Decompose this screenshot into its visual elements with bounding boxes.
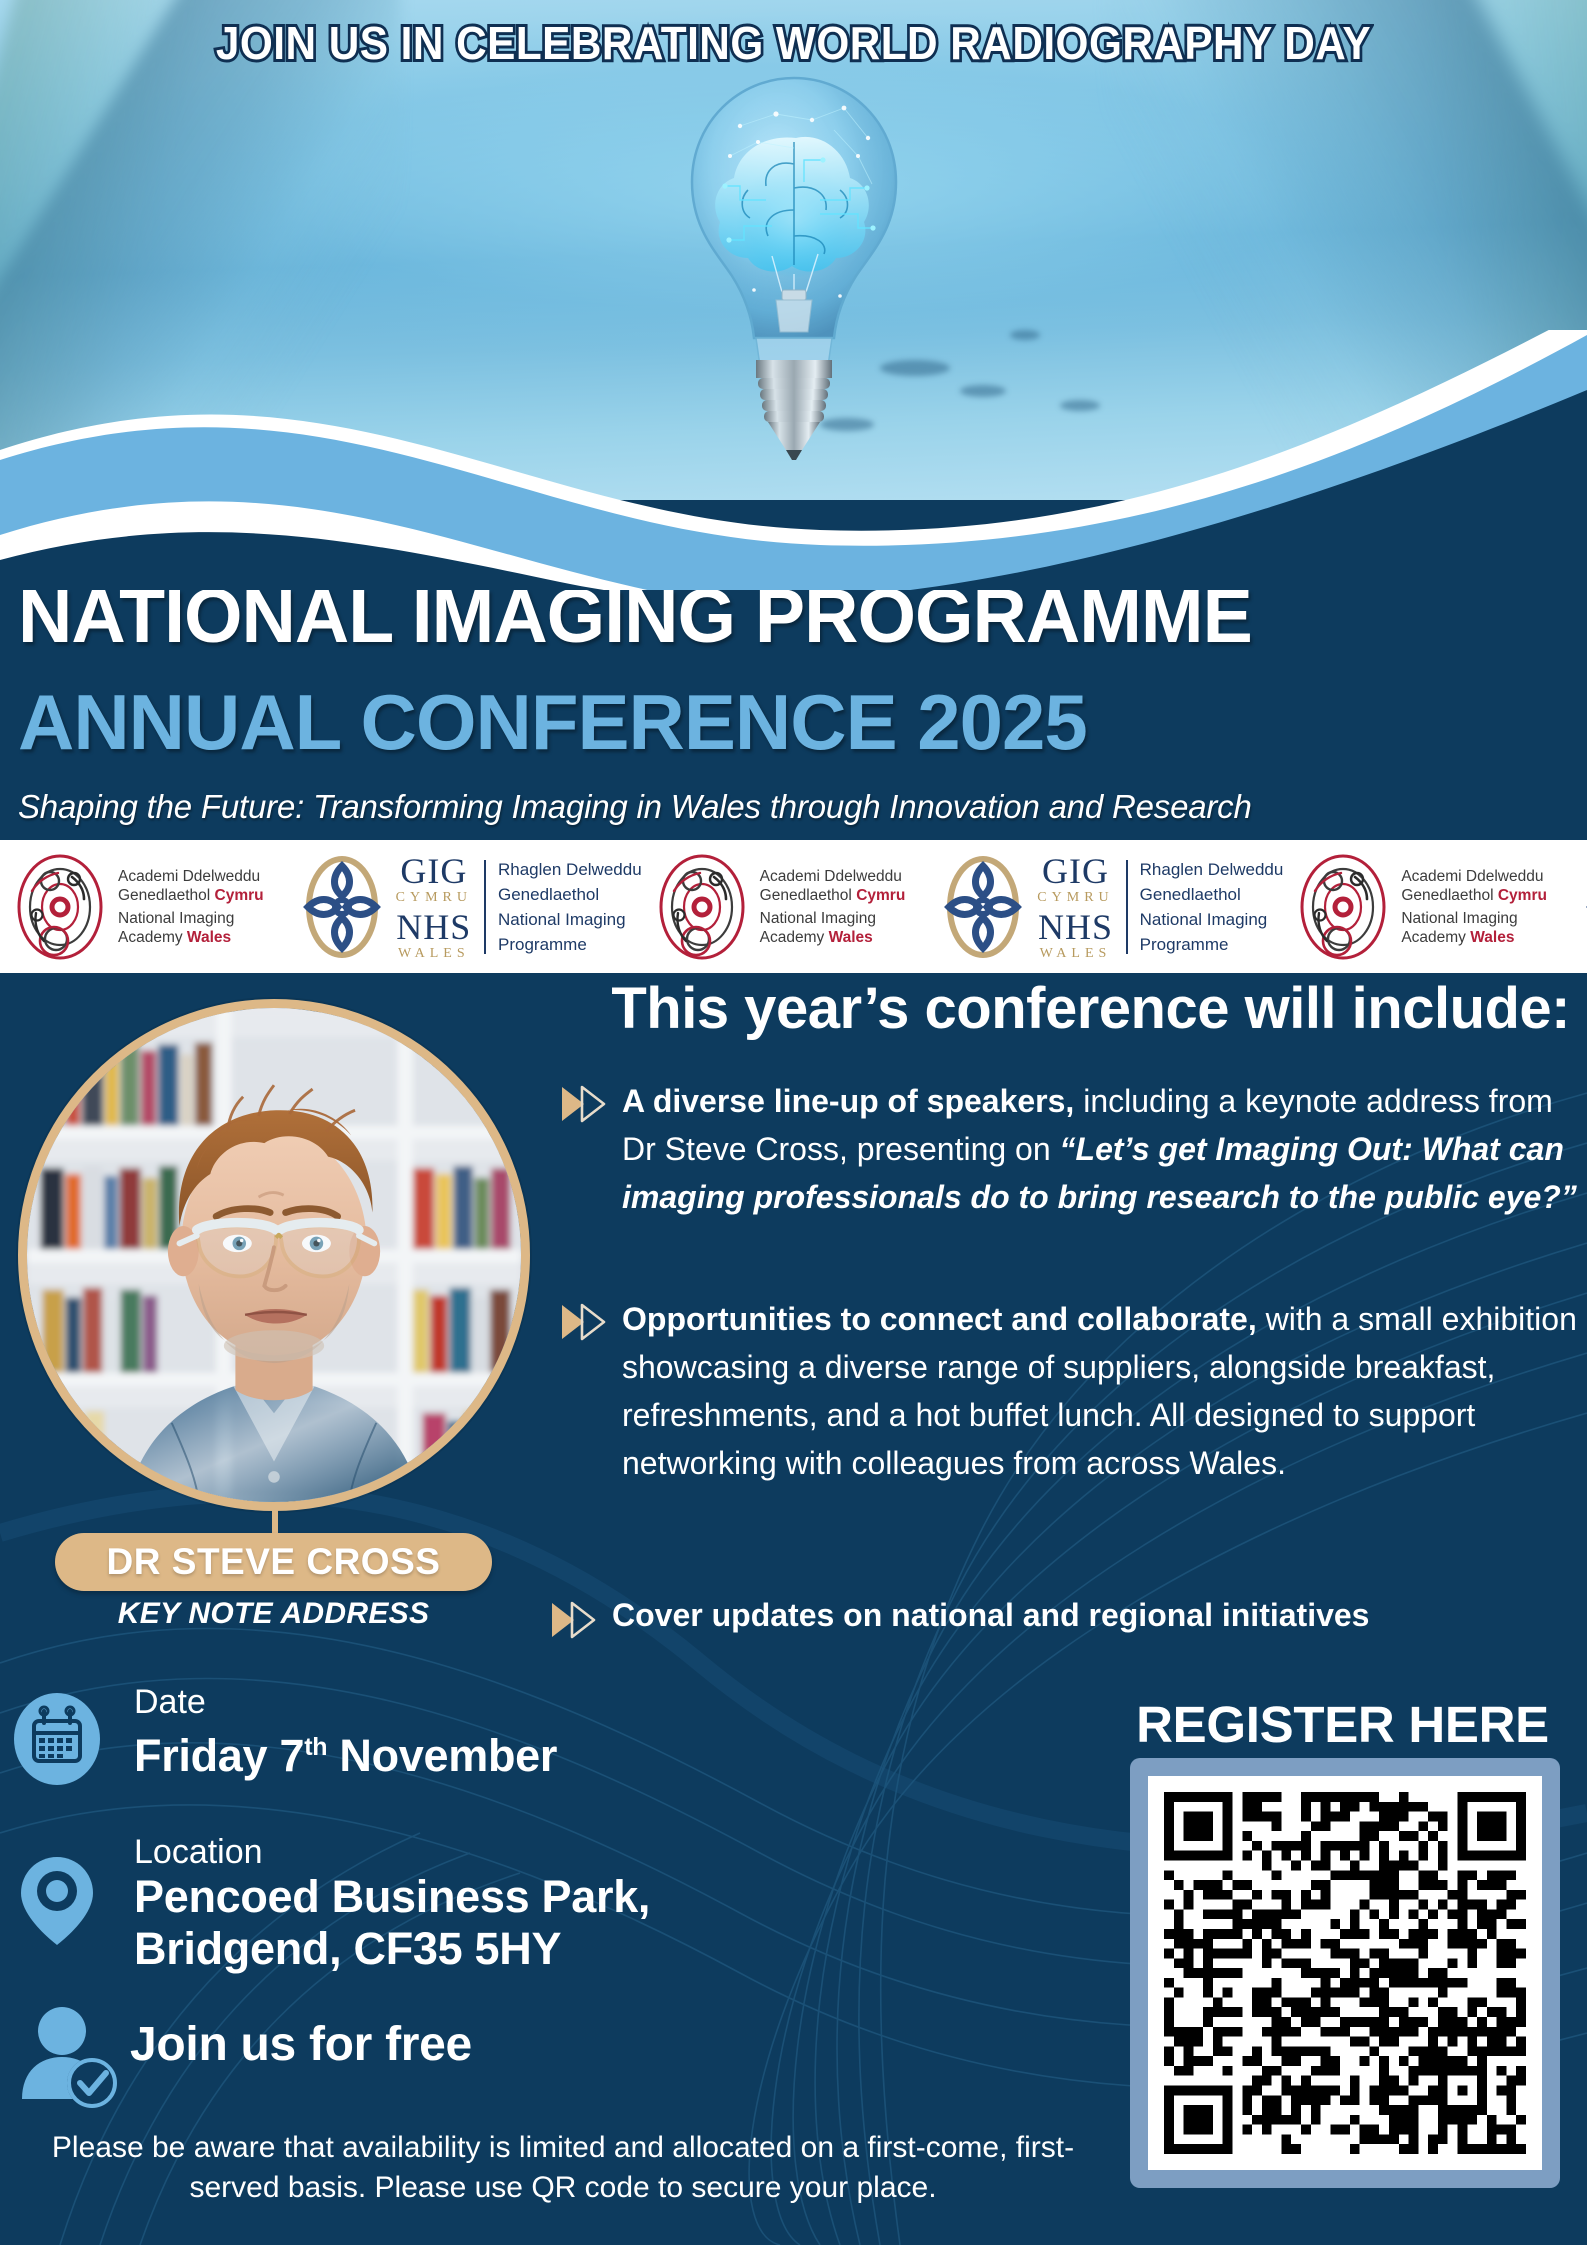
qr-code-panel[interactable] xyxy=(1130,1758,1560,2188)
location-label: Location xyxy=(134,1833,650,1871)
nia-logo-mark xyxy=(656,853,748,961)
date-label: Date xyxy=(134,1683,557,1721)
nhs-logo-text: Rhaglen Delweddu Genedlaethol National I… xyxy=(1140,857,1284,957)
nhs-line-4: Programme xyxy=(498,932,642,957)
logo-pair: Academi Ddelweddu Genedlaethol Cymru Nat… xyxy=(0,852,642,962)
nia-line-3: National Imaging xyxy=(760,909,906,928)
nia-logo-mark xyxy=(1297,853,1389,961)
title-block: NATIONAL IMAGING PROGRAMME ANNUAL CONFER… xyxy=(0,560,1587,840)
logo-strip: Academi Ddelweddu Genedlaethol Cymru Nat… xyxy=(0,840,1587,973)
nia-line-4: Academy Wales xyxy=(760,928,906,947)
bullet-text-1: A diverse line-up of speakers, including… xyxy=(622,1077,1580,1221)
nhs-text: NHS xyxy=(396,909,471,945)
free-row: Join us for free xyxy=(0,2003,900,2113)
nhs-wales-logo-mark xyxy=(935,852,1031,962)
speaker-role: KEY NOTE ADDRESS xyxy=(55,1597,492,1631)
person-check-icon xyxy=(14,2003,124,2118)
free-value: Join us for free xyxy=(130,2019,472,2071)
location-line-1: Pencoed Business Park, xyxy=(134,1871,650,1923)
logo-pair: Academi Ddelweddu Genedlaethol Cymru Nat… xyxy=(1283,852,1587,962)
nia-line-2: Genedlaethol Cymru xyxy=(118,886,264,905)
nhs-line-2: Genedlaethol xyxy=(1140,882,1284,907)
double-chevron-icon xyxy=(560,1077,622,1221)
status-badge: DR STEVE CROSS xyxy=(55,1533,492,1591)
nia-logo-text: Academi Ddelweddu Genedlaethol Cymru Nat… xyxy=(118,867,264,947)
date-value: Friday 7th November xyxy=(134,1721,557,1782)
nhs-wales-logo-mark xyxy=(294,852,390,962)
list-item: A diverse line-up of speakers, including… xyxy=(560,1077,1580,1221)
nia-line-3: National Imaging xyxy=(1401,909,1547,928)
nia-logo-mark xyxy=(14,853,106,961)
page-tagline: Shaping the Future: Transforming Imaging… xyxy=(18,788,1569,826)
register-heading: REGISTER HERE xyxy=(1110,1695,1575,1754)
cymru-text: CYMRU xyxy=(396,891,472,905)
conference-poster: JOIN US IN CELEBRATING WORLD RADIOGRAPHY… xyxy=(0,0,1587,2245)
location-row: Location Pencoed Business Park, Bridgend… xyxy=(0,1833,900,1993)
nhs-wales-logo: GIG CYMRU NHS WALES Rhaglen Delweddu Gen… xyxy=(1577,852,1587,962)
gig-nhs-wordmark: GIG CYMRU NHS WALES xyxy=(1037,853,1113,961)
map-pin-icon xyxy=(14,1853,100,1954)
nia-logo-text: Academi Ddelweddu Genedlaethol Cymru Nat… xyxy=(1401,867,1547,947)
national-imaging-academy-logo: Academi Ddelweddu Genedlaethol Cymru Nat… xyxy=(1297,853,1547,961)
section-heading: This year’s conference will include: xyxy=(490,975,1570,1042)
gig-nhs-wordmark: GIG CYMRU NHS WALES xyxy=(396,853,472,961)
date-ordinal: th xyxy=(304,1733,327,1761)
wales-text: WALES xyxy=(1040,947,1112,961)
cymru-text: CYMRU xyxy=(1037,891,1113,905)
nhs-line-3: National Imaging xyxy=(1140,907,1284,932)
nia-line-1: Academi Ddelweddu xyxy=(1401,867,1547,886)
nhs-line-3: National Imaging xyxy=(498,907,642,932)
gig-text: GIG xyxy=(1042,853,1109,889)
nhs-wales-logo-mark xyxy=(1577,852,1587,962)
qr-code-inner xyxy=(1148,1776,1542,2170)
availability-footnote: Please be aware that availability is lim… xyxy=(18,2128,1108,2208)
list-item: Opportunities to connect and collaborate… xyxy=(560,1295,1587,1487)
nhs-line-1: Rhaglen Delweddu xyxy=(498,857,642,882)
bullet-text-3: Cover updates on national and regional i… xyxy=(612,1593,1369,1644)
double-chevron-icon xyxy=(560,1295,622,1487)
speaker-name: DR STEVE CROSS xyxy=(107,1541,441,1583)
wave-divider xyxy=(0,330,1587,590)
nia-line-1: Academi Ddelweddu xyxy=(760,867,906,886)
nia-line-1: Academi Ddelweddu xyxy=(118,867,264,886)
registration-qr-code[interactable] xyxy=(1164,1792,1526,2154)
bullet-text-2: Opportunities to connect and collaborate… xyxy=(622,1295,1587,1487)
avatar xyxy=(18,999,530,1511)
wales-text: WALES xyxy=(398,947,470,961)
nhs-wales-logo: GIG CYMRU NHS WALES Rhaglen Delweddu Gen… xyxy=(935,852,1283,962)
logo-divider xyxy=(484,860,486,954)
nia-logo-text: Academi Ddelweddu Genedlaethol Cymru Nat… xyxy=(760,867,906,947)
content-area: DR STEVE CROSS KEY NOTE ADDRESS This yea… xyxy=(0,973,1587,2245)
date-value-post: November xyxy=(327,1730,557,1781)
gig-text: GIG xyxy=(400,853,467,889)
page-headline: JOIN US IN CELEBRATING WORLD RADIOGRAPHY… xyxy=(63,16,1523,70)
nhs-line-2: Genedlaethol xyxy=(498,882,642,907)
double-chevron-icon xyxy=(550,1593,612,1644)
bullet-bold-2: Opportunities to connect and collaborate… xyxy=(622,1301,1257,1337)
speaker-photo xyxy=(27,1008,521,1502)
nia-line-4: Academy Wales xyxy=(1401,928,1547,947)
date-row: Date Friday 7th November xyxy=(0,1681,900,1791)
nhs-logo-text: Rhaglen Delweddu Genedlaethol National I… xyxy=(498,857,642,957)
nhs-line-4: Programme xyxy=(1140,932,1284,957)
page-subtitle: ANNUAL CONFERENCE 2025 xyxy=(18,682,1569,762)
nia-line-3: National Imaging xyxy=(118,909,264,928)
bullet-bold-3: Cover updates on national and regional i… xyxy=(612,1597,1369,1633)
location-line-2: Bridgend, CF35 5HY xyxy=(134,1923,650,1975)
logo-divider xyxy=(1126,860,1128,954)
nhs-line-1: Rhaglen Delweddu xyxy=(1140,857,1284,882)
national-imaging-academy-logo: Academi Ddelweddu Genedlaethol Cymru Nat… xyxy=(14,853,264,961)
bullet-bold-1: A diverse line-up of speakers, xyxy=(622,1083,1074,1119)
logo-pair: Academi Ddelweddu Genedlaethol Cymru Nat… xyxy=(642,852,1284,962)
date-value-pre: Friday 7 xyxy=(134,1730,304,1781)
nia-line-2: Genedlaethol Cymru xyxy=(760,886,906,905)
list-item: Cover updates on national and regional i… xyxy=(550,1593,1580,1644)
nia-line-4: Academy Wales xyxy=(118,928,264,947)
national-imaging-academy-logo: Academi Ddelweddu Genedlaethol Cymru Nat… xyxy=(656,853,906,961)
nia-line-2: Genedlaethol Cymru xyxy=(1401,886,1547,905)
nhs-text: NHS xyxy=(1038,909,1113,945)
nhs-wales-logo: GIG CYMRU NHS WALES Rhaglen Delweddu Gen… xyxy=(294,852,642,962)
calendar-icon xyxy=(14,1693,100,1790)
